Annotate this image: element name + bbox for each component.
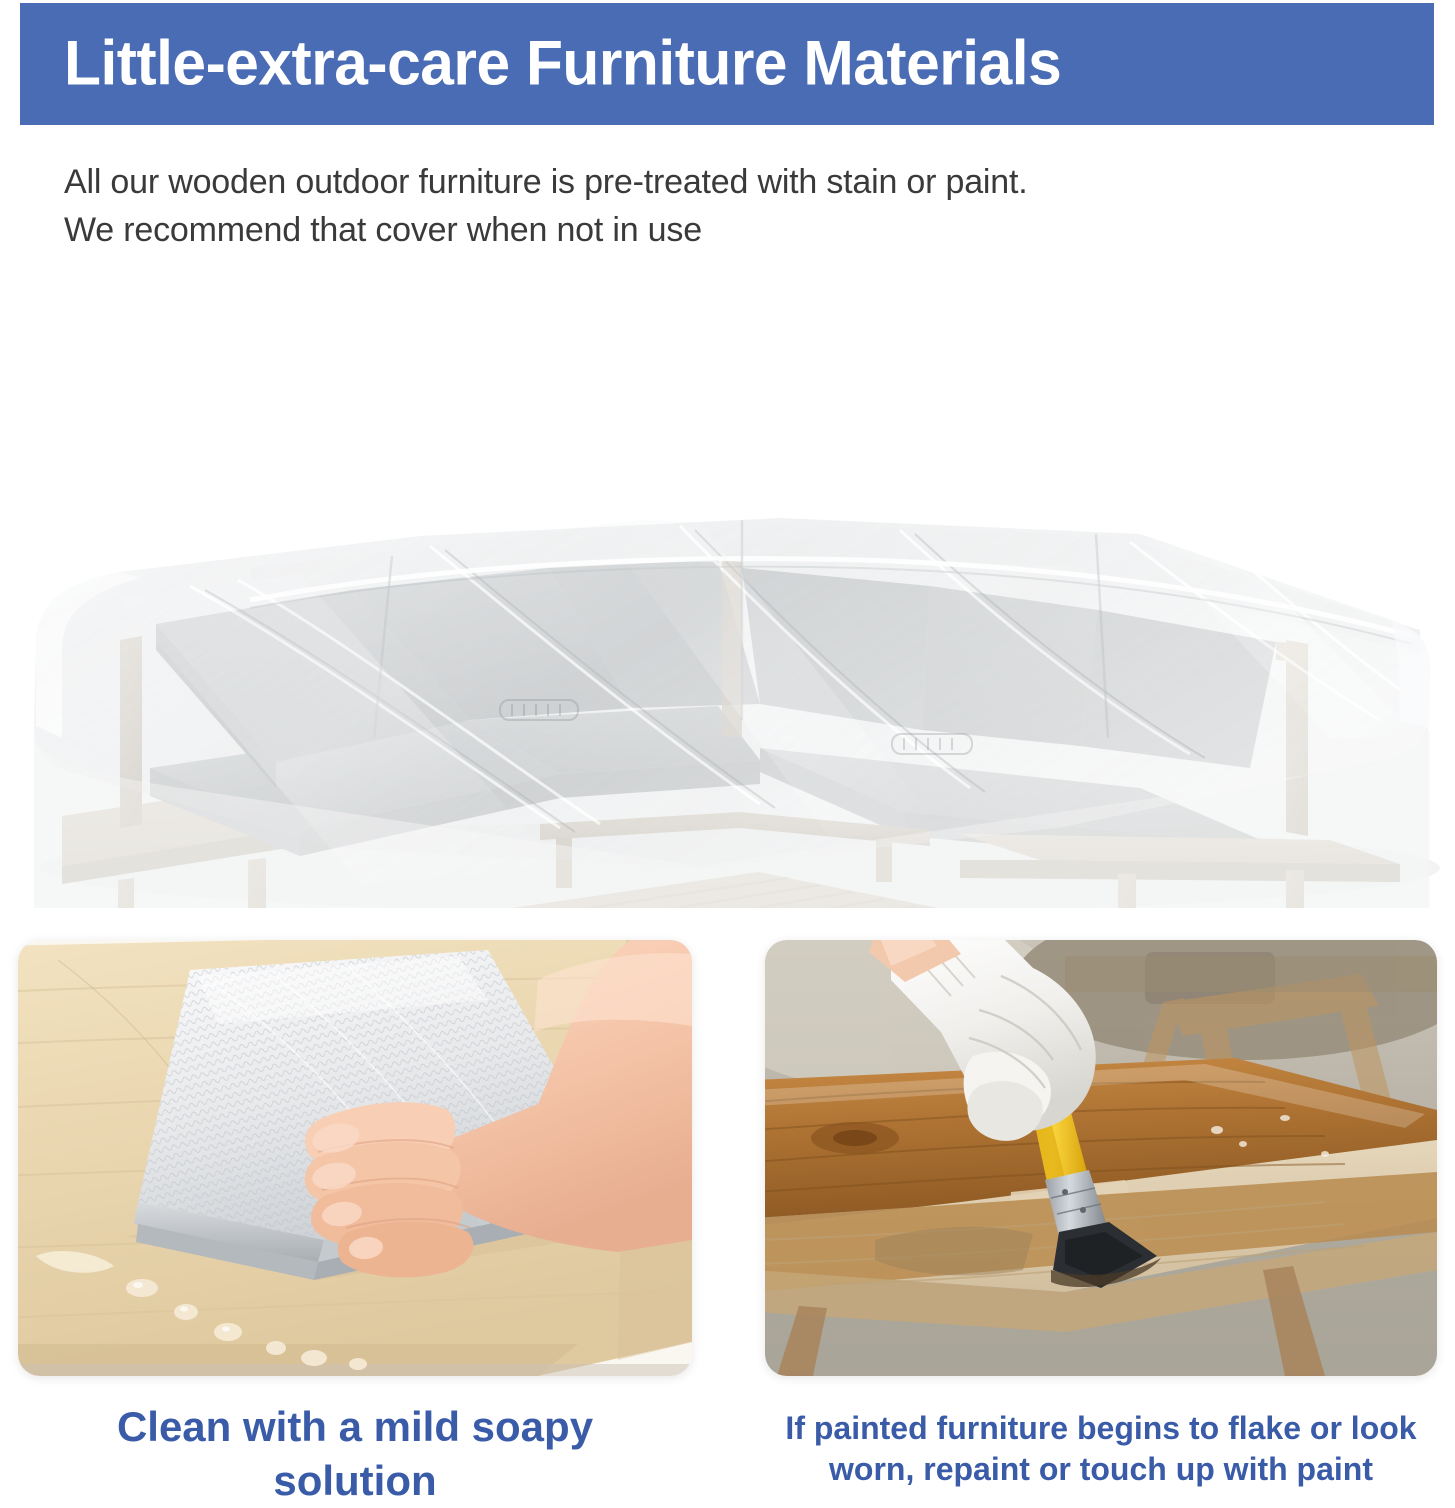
clean-panel-caption: Clean with a mild soapy solution — [18, 1400, 692, 1508]
staining-plank-illustration — [765, 940, 1437, 1376]
clean-caption-line-1: Clean with a mild soapy — [18, 1400, 692, 1454]
hero-covered-furniture-image — [0, 268, 1455, 908]
intro-line-2: We recommend that cover when not in use — [64, 206, 1344, 254]
covered-sectional-illustration — [0, 268, 1455, 908]
clean-caption-line-2: solution — [18, 1454, 692, 1508]
page-title: Little-extra-care Furniture Materials — [64, 33, 1061, 96]
repaint-caption-line-2: worn, repaint or touch up with paint — [765, 1449, 1437, 1490]
repaint-panel-image — [765, 940, 1437, 1376]
intro-text: All our wooden outdoor furniture is pre-… — [64, 158, 1344, 255]
repaint-panel-caption: If painted furniture begins to flake or … — [765, 1408, 1437, 1490]
protective-cover — [34, 518, 1430, 908]
hand-wiping-wood-illustration — [18, 940, 692, 1376]
clean-panel-image — [18, 940, 692, 1376]
intro-line-1: All our wooden outdoor furniture is pre-… — [64, 158, 1344, 206]
repaint-caption-line-1: If painted furniture begins to flake or … — [765, 1408, 1437, 1449]
header-banner: Little-extra-care Furniture Materials — [20, 3, 1434, 125]
